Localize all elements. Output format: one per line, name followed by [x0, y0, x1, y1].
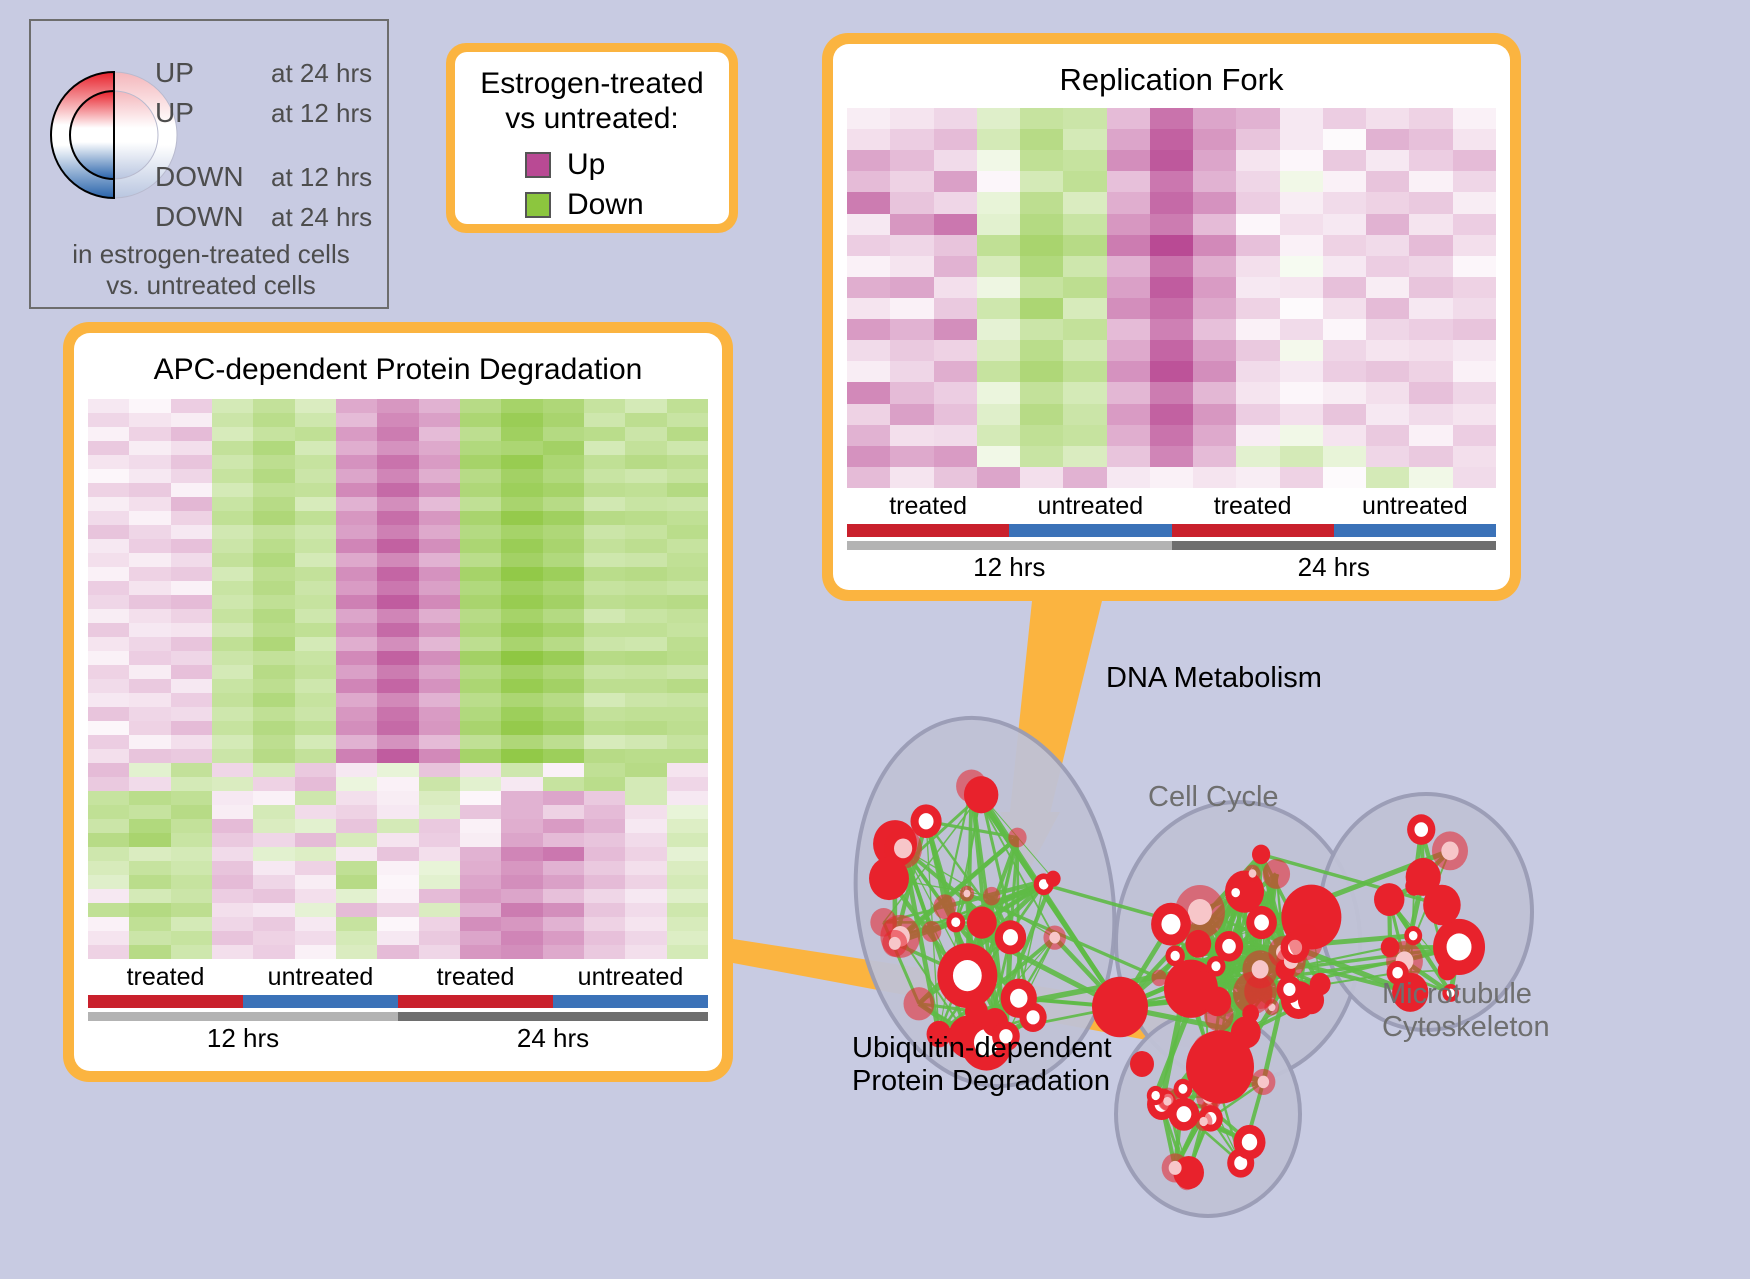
heatmap-cell [88, 763, 129, 777]
heatmap-cell [460, 525, 501, 539]
heatmap-cell [1236, 129, 1279, 150]
wheel-time: at 24 hrs [271, 58, 372, 89]
heatmap-row [88, 455, 708, 469]
heatmap-cell [253, 665, 294, 679]
heatmap-cell [584, 833, 625, 847]
heatmap-cell [890, 192, 933, 213]
heatmap-cell [88, 623, 129, 637]
wheel-legend-row: UP at 12 hrs [155, 97, 389, 137]
heatmap-cell [1063, 425, 1106, 446]
heatmap-cell [460, 469, 501, 483]
heatmap-cell [501, 525, 542, 539]
heatmap-cell [1150, 361, 1193, 382]
heatmap-cell [336, 707, 377, 721]
heatmap-cell [1063, 129, 1106, 150]
heatmap-cell [336, 609, 377, 623]
heatmap-cell [171, 525, 212, 539]
heatmap-cell [1409, 214, 1452, 235]
heatmap-cell [1280, 214, 1323, 235]
heatmap-row [88, 903, 708, 917]
heatmap-cell [129, 441, 170, 455]
heatmap-cell [1063, 319, 1106, 340]
heatmap-cell [543, 791, 584, 805]
heatmap-cell [460, 889, 501, 903]
heatmap-cell [667, 539, 708, 553]
heatmap-cell [129, 805, 170, 819]
heatmap-row [88, 805, 708, 819]
network-node [1043, 925, 1066, 949]
treatment-bars [88, 995, 708, 1008]
heatmap-cell [1020, 361, 1063, 382]
heatmap-cell [584, 707, 625, 721]
heatmap-cell [460, 749, 501, 763]
heatmap-cell [1280, 467, 1323, 488]
heatmap-row [88, 777, 708, 791]
heatmap-cell [1107, 340, 1150, 361]
heatmap-cell [1063, 382, 1106, 403]
heatmap-cell [129, 861, 170, 875]
heatmap-cell [419, 441, 460, 455]
timepoint-bar [398, 1012, 708, 1021]
heatmap-cell [1020, 129, 1063, 150]
heatmap-cell [543, 609, 584, 623]
node-outer-ring [1252, 845, 1270, 865]
heatmap-cell [171, 819, 212, 833]
heatmap-cell [667, 777, 708, 791]
heatmap-row [847, 171, 1496, 192]
heatmap-cell [543, 637, 584, 651]
heatmap-cell [1107, 256, 1150, 277]
heatmap-cell [584, 749, 625, 763]
heatmap-cell [584, 763, 625, 777]
node-inner-core [1178, 1084, 1187, 1094]
heatmap-cell [1236, 340, 1279, 361]
heatmap-cell [1366, 340, 1409, 361]
heatmap-cell [377, 441, 418, 455]
heatmap-cell [625, 609, 666, 623]
treatment-bar [88, 995, 243, 1008]
heatmap-cell [667, 637, 708, 651]
heatmap-cell [88, 735, 129, 749]
node-inner-core [1177, 1106, 1192, 1122]
heatmap-cell [584, 539, 625, 553]
heatmap-row [88, 511, 708, 525]
heatmap-cell [295, 483, 336, 497]
heatmap-cell [295, 665, 336, 679]
heatmap-cell [419, 497, 460, 511]
key-title-line-2: vs untreated: [473, 101, 711, 136]
heatmap-row [88, 875, 708, 889]
heatmap-cell [1409, 256, 1452, 277]
heatmap-cell [253, 903, 294, 917]
heatmap-cell [88, 861, 129, 875]
heatmap-cell [934, 171, 977, 192]
heatmap-row [88, 847, 708, 861]
heatmap-row [847, 319, 1496, 340]
heatmap-cell [1150, 467, 1193, 488]
heatmap-cell [460, 623, 501, 637]
heatmap-cell [501, 945, 542, 959]
timepoint-label: 24 hrs [398, 1023, 708, 1054]
heatmap-cell [377, 833, 418, 847]
heatmap-cell [847, 404, 890, 425]
heatmap-cell [295, 637, 336, 651]
network-node [995, 920, 1027, 954]
node-outer-ring [965, 999, 988, 1024]
heatmap-cell [419, 707, 460, 721]
heatmap-cell [1193, 319, 1236, 340]
heatmap-cell [625, 455, 666, 469]
heatmap-cell [584, 511, 625, 525]
heatmap-cell [171, 665, 212, 679]
heatmap-cell [212, 693, 253, 707]
heatmap-cell [584, 819, 625, 833]
heatmap-cell [501, 623, 542, 637]
heatmap-cell [253, 833, 294, 847]
heatmap-cell [890, 256, 933, 277]
heatmap-cell [543, 525, 584, 539]
heatmap-cell [543, 483, 584, 497]
node-inner-core [953, 960, 982, 991]
heatmap-row [88, 763, 708, 777]
heatmap-cell [419, 805, 460, 819]
heatmap-cell [1150, 129, 1193, 150]
heatmap-cell [501, 819, 542, 833]
heatmap-cell [1020, 425, 1063, 446]
heatmap-cell [88, 903, 129, 917]
node-inner-core [963, 890, 970, 898]
heatmap-cell [171, 553, 212, 567]
heatmap-cell [501, 791, 542, 805]
heatmap-cell [171, 469, 212, 483]
heatmap-cell [1366, 382, 1409, 403]
heatmap-cell [977, 467, 1020, 488]
heatmap-cell [1020, 235, 1063, 256]
heatmap-cell [1366, 298, 1409, 319]
heatmap-cell [1236, 277, 1279, 298]
heatmap-cell [667, 693, 708, 707]
heatmap-cell [501, 763, 542, 777]
heatmap-cell [1020, 192, 1063, 213]
heatmap-cell [1193, 235, 1236, 256]
heatmap-cell [584, 889, 625, 903]
heatmap-cell [501, 665, 542, 679]
heatmap-cell [336, 875, 377, 889]
heatmap-cell [847, 129, 890, 150]
heatmap-cell [584, 665, 625, 679]
heatmap-cell [212, 931, 253, 945]
colour-wheel-legend: UP at 24 hrs UP at 12 hrs DOWN at 12 hrs… [29, 19, 389, 309]
heatmap-cell [171, 567, 212, 581]
heatmap-cell [1236, 382, 1279, 403]
heatmap-cell [336, 525, 377, 539]
wheel-time: at 12 hrs [271, 162, 372, 193]
heatmap-cell [625, 889, 666, 903]
heatmap-row [88, 707, 708, 721]
panel-title: Replication Fork [847, 62, 1496, 98]
heatmap-cell [1280, 108, 1323, 129]
heatmap-cell [253, 511, 294, 525]
heatmap-cell [295, 917, 336, 931]
heatmap-cell [1366, 277, 1409, 298]
heatmap-cell [253, 763, 294, 777]
heatmap-cell [1323, 425, 1366, 446]
heatmap-cell [667, 651, 708, 665]
heatmap-cell [419, 945, 460, 959]
heatmap-cell [377, 819, 418, 833]
heatmap-cell [1409, 192, 1452, 213]
heatmap-cell [253, 693, 294, 707]
heatmap-cell [336, 637, 377, 651]
heatmap-cell [295, 861, 336, 875]
heatmap-cell [129, 819, 170, 833]
heatmap-cell [501, 931, 542, 945]
heatmap-cell [377, 805, 418, 819]
heatmap-cell [377, 623, 418, 637]
heatmap-cell [295, 539, 336, 553]
heatmap-cell [129, 595, 170, 609]
heatmap-cell [419, 399, 460, 413]
heatmap-cell [1020, 340, 1063, 361]
heatmap-cell [212, 483, 253, 497]
heatmap-replication-fork [847, 108, 1496, 488]
heatmap-cell [1280, 382, 1323, 403]
heatmap-cell [336, 833, 377, 847]
heatmap-cell [1453, 192, 1496, 213]
heatmap-cell [88, 455, 129, 469]
heatmap-cell [253, 819, 294, 833]
heatmap-cell [543, 805, 584, 819]
heatmap-cell [1107, 214, 1150, 235]
heatmap-row [847, 340, 1496, 361]
node-outer-ring [1130, 1051, 1154, 1077]
heatmap-cell [1193, 361, 1236, 382]
heatmap-cell [460, 399, 501, 413]
heatmap-row [88, 539, 708, 553]
node-inner-core [1258, 1076, 1270, 1089]
node-inner-core [1027, 1010, 1040, 1024]
heatmap-cell [171, 931, 212, 945]
node-outer-ring [964, 776, 998, 813]
heatmap-cell [1453, 108, 1496, 129]
heatmap-cell [501, 581, 542, 595]
node-outer-ring [1046, 871, 1061, 887]
node-inner-core [1169, 1161, 1182, 1175]
node-inner-core [1161, 914, 1180, 935]
heatmap-cell [419, 609, 460, 623]
heatmap-cell [1236, 298, 1279, 319]
heatmap-cell [667, 679, 708, 693]
heatmap-cell [129, 903, 170, 917]
heatmap-cell [336, 847, 377, 861]
network-node [1195, 1112, 1213, 1131]
heatmap-cell [88, 497, 129, 511]
heatmap-cell [584, 791, 625, 805]
heatmap-cell [501, 833, 542, 847]
heatmap-cell [129, 483, 170, 497]
heatmap-cell [253, 637, 294, 651]
heatmap-cell [1107, 171, 1150, 192]
network-node [1242, 950, 1277, 988]
heatmap-cell [212, 623, 253, 637]
heatmap-cell [377, 931, 418, 945]
heatmap-cell [129, 637, 170, 651]
heatmap-cell [336, 553, 377, 567]
timepoint-bars [847, 541, 1496, 550]
heatmap-cell [625, 875, 666, 889]
heatmap-cell [460, 553, 501, 567]
heatmap-cell [419, 693, 460, 707]
timepoint-bar [847, 541, 1172, 550]
up-down-colour-key: Estrogen-treated vs untreated: Up Down [446, 43, 738, 233]
heatmap-cell [977, 277, 1020, 298]
wheel-footer-line-2: vs. untreated cells [31, 270, 391, 301]
heatmap-cell [584, 497, 625, 511]
heatmap-cell [1193, 382, 1236, 403]
wheel-direction: DOWN [155, 161, 271, 193]
heatmap-cell [88, 413, 129, 427]
heatmap-cell [667, 483, 708, 497]
heatmap-cell [419, 833, 460, 847]
heatmap-cell [253, 931, 294, 945]
heatmap-cell [584, 553, 625, 567]
heatmap-cell [460, 819, 501, 833]
heatmap-cell [1107, 192, 1150, 213]
heatmap-cell [667, 805, 708, 819]
heatmap-cell [212, 553, 253, 567]
heatmap-cell [295, 455, 336, 469]
heatmap-cell [501, 609, 542, 623]
heatmap-cell [667, 833, 708, 847]
heatmap-row [88, 749, 708, 763]
heatmap-cell [88, 609, 129, 623]
heatmap-cell [460, 637, 501, 651]
heatmap-cell [1020, 150, 1063, 171]
heatmap-cell [253, 553, 294, 567]
network-node [882, 930, 907, 957]
heatmap-cell [253, 679, 294, 693]
group-label: treated [847, 492, 1009, 521]
group-label: treated [88, 963, 243, 992]
heatmap-row [88, 721, 708, 735]
heatmap-cell [977, 192, 1020, 213]
heatmap-cell [1193, 425, 1236, 446]
heatmap-cell [1236, 446, 1279, 467]
heatmap-cell [667, 399, 708, 413]
heatmap-cell [890, 150, 933, 171]
timepoint-bar [88, 1012, 398, 1021]
heatmap-cell [1063, 235, 1106, 256]
heatmap-cell [253, 469, 294, 483]
heatmap-cell [419, 511, 460, 525]
heatmap-cell [977, 404, 1020, 425]
heatmap-cell [253, 735, 294, 749]
heatmap-cell [171, 581, 212, 595]
heatmap-cell [501, 553, 542, 567]
heatmap-cell [212, 497, 253, 511]
heatmap-cell [1107, 298, 1150, 319]
node-outer-ring [1374, 883, 1404, 916]
heatmap-cell [419, 651, 460, 665]
heatmap-cell [377, 427, 418, 441]
heatmap-cell [667, 931, 708, 945]
heatmap-row [847, 192, 1496, 213]
heatmap-cell [1409, 129, 1452, 150]
heatmap-cell [295, 889, 336, 903]
heatmap-cell [460, 413, 501, 427]
heatmap-cell [625, 441, 666, 455]
heatmap-cell [1107, 446, 1150, 467]
cluster-label-dna-metabolism: DNA Metabolism [1106, 662, 1322, 695]
wheel-legend-row: DOWN at 12 hrs [155, 161, 389, 201]
heatmap-cell [1453, 235, 1496, 256]
heatmap-cell [625, 833, 666, 847]
network-node [1310, 973, 1331, 996]
heatmap-cell [625, 539, 666, 553]
heatmap-cell [1063, 214, 1106, 235]
heatmap-cell [667, 623, 708, 637]
heatmap-cell [1366, 235, 1409, 256]
heatmap-cell [1063, 340, 1106, 361]
heatmap-cell [171, 805, 212, 819]
heatmap-cell [1323, 404, 1366, 425]
heatmap-cell [377, 553, 418, 567]
heatmap-cell [253, 441, 294, 455]
heatmap-cell [88, 427, 129, 441]
heatmap-cell [88, 595, 129, 609]
heatmap-cell [88, 651, 129, 665]
heatmap-cell [336, 567, 377, 581]
heatmap-cell [584, 693, 625, 707]
pathway-network-diagram: DNA Metabolism Cell Cycle Microtubule Cy… [790, 612, 1750, 1279]
heatmap-cell [88, 525, 129, 539]
heatmap-cell [1323, 340, 1366, 361]
heatmap-cell [212, 455, 253, 469]
heatmap-row [88, 581, 708, 595]
heatmap-cell [253, 623, 294, 637]
key-item-up: Up [525, 145, 711, 185]
heatmap-cell [377, 721, 418, 735]
heatmap-cell [667, 903, 708, 917]
network-node [1092, 977, 1148, 1037]
network-node [922, 921, 941, 942]
heatmap-cell [171, 861, 212, 875]
heatmap-cell [1366, 256, 1409, 277]
heatmap-row [847, 382, 1496, 403]
heatmap-cell [377, 637, 418, 651]
heatmap-cell [625, 427, 666, 441]
network-node [1185, 930, 1211, 958]
heatmap-cell [1366, 192, 1409, 213]
heatmap-cell [377, 749, 418, 763]
network-node [1204, 987, 1231, 1017]
group-labels: treateduntreatedtreateduntreated [88, 963, 708, 992]
heatmap-cell [625, 651, 666, 665]
heatmap-cell [129, 609, 170, 623]
heatmap-cell [584, 455, 625, 469]
heatmap-cell [419, 749, 460, 763]
heatmap-cell [625, 413, 666, 427]
heatmap-cell [625, 469, 666, 483]
heatmap-cell [501, 917, 542, 931]
network-node [1289, 924, 1323, 961]
heatmap-cell [253, 861, 294, 875]
heatmap-cell [460, 609, 501, 623]
up-swatch-icon [525, 152, 551, 178]
heatmap-cell [129, 735, 170, 749]
heatmap-cell [377, 903, 418, 917]
cluster-label-cell-cycle: Cell Cycle [1148, 781, 1279, 814]
